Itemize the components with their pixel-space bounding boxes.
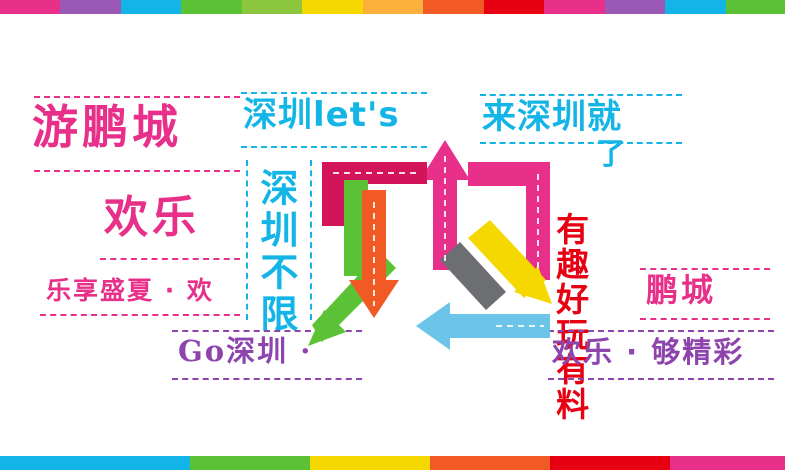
- divider-pink-top-left: [34, 96, 240, 98]
- bottom-stripe-2: [310, 456, 430, 470]
- top-stripe-6: [363, 0, 423, 14]
- top-stripe-7: [423, 0, 483, 14]
- bottom-stripe-0: [0, 456, 190, 470]
- divider-purple-right-lower: [548, 378, 774, 380]
- central-gou-character: [300, 120, 580, 370]
- top-color-stripes: [0, 0, 785, 14]
- divider-pink-right-lower: [640, 318, 770, 320]
- text-le: 了: [596, 140, 627, 170]
- top-stripe-4: [242, 0, 302, 14]
- text-huan-le: 欢乐: [104, 196, 200, 240]
- top-stripe-3: [181, 0, 241, 14]
- top-stripe-12: [726, 0, 785, 14]
- divider-pink-below-huanle: [100, 258, 240, 260]
- text-go-shenzhen: Go深圳 ·: [178, 337, 312, 366]
- divider-blue-top: [241, 92, 427, 94]
- bottom-stripe-5: [670, 456, 785, 470]
- bottom-color-stripes: [0, 456, 785, 470]
- top-stripe-2: [121, 0, 181, 14]
- bottom-stripe-3: [430, 456, 550, 470]
- divider-purple-right: [548, 330, 774, 332]
- top-stripe-0: [0, 0, 60, 14]
- text-huan-le-gou-jing-cai: 欢乐 · 够精彩: [552, 338, 744, 367]
- top-stripe-1: [60, 0, 120, 14]
- text-shenzhen-bu-xian: 深圳不限: [255, 168, 295, 336]
- divider-pink-bottom-left: [40, 314, 240, 316]
- text-peng-cheng: 鹏城: [646, 274, 716, 306]
- top-stripe-9: [544, 0, 604, 14]
- divider-blue-vertical-left: [246, 160, 248, 320]
- bottom-stripe-1: [190, 456, 310, 470]
- top-stripe-10: [605, 0, 665, 14]
- divider-pink-right: [640, 268, 770, 270]
- top-stripe-11: [665, 0, 726, 14]
- divider-blue-top-right: [480, 94, 682, 96]
- text-le-xiang-sheng-xia: 乐享盛夏 · 欢: [46, 278, 214, 303]
- bottom-stripe-4: [550, 456, 670, 470]
- divider-purple-left-lower: [172, 378, 362, 380]
- top-stripe-5: [302, 0, 362, 14]
- top-stripe-8: [484, 0, 544, 14]
- poster-canvas: 游鹏城 欢乐 乐享盛夏 · 欢 深圳let's 深圳不限 来深圳就 了 有趣好玩…: [0, 0, 785, 470]
- text-you-peng-cheng: 游鹏城: [32, 104, 182, 150]
- divider-pink-mid-left: [34, 170, 240, 172]
